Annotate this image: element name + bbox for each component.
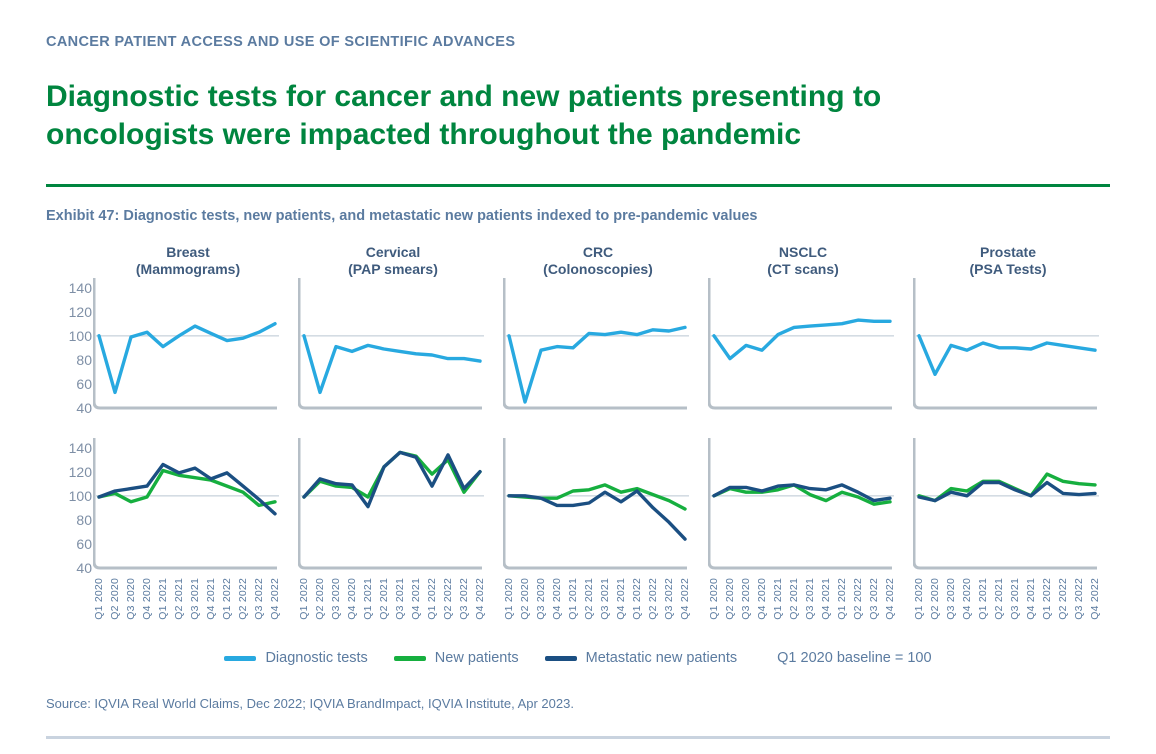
y-axis-tick: 40 (76, 561, 92, 575)
plot-bottom-nsclc (708, 438, 898, 578)
x-axis-tick: Q2 2022 (647, 578, 659, 620)
exhibit-caption: Exhibit 47: Diagnostic tests, new patien… (46, 208, 757, 224)
x-axis-tick: Q3 2022 (458, 578, 470, 620)
plot-top-nsclc (708, 278, 898, 418)
x-axis-tick: Q1 2022 (221, 578, 233, 620)
x-axis-tick: Q3 2020 (535, 578, 547, 620)
eyebrow-label: CANCER PATIENT ACCESS AND USE OF SCIENTI… (46, 34, 515, 50)
plot-top-prostate (913, 278, 1103, 418)
x-axis-tick: Q3 2021 (189, 578, 201, 620)
series-line (99, 465, 275, 514)
x-axis-tick: Q3 2022 (868, 578, 880, 620)
x-axis-tick: Q4 2022 (1089, 578, 1101, 620)
y-axis-labels-row-2: 406080100120140 (52, 438, 92, 568)
plot-bottom-prostate (913, 438, 1103, 578)
x-axis-tick: Q2 2021 (378, 578, 390, 620)
x-axis-tick: Q4 2020 (961, 578, 973, 620)
x-axis-tick: Q1 2022 (426, 578, 438, 620)
x-axis-tick: Q2 2022 (442, 578, 454, 620)
plot-bottom-breast (93, 438, 283, 578)
x-axis-tick: Q3 2021 (394, 578, 406, 620)
x-axis-tick: Q3 2022 (663, 578, 675, 620)
panel-title-name: Prostate (980, 244, 1036, 260)
x-axis-tick: Q4 2020 (141, 578, 153, 620)
x-axis-tick: Q1 2021 (567, 578, 579, 620)
x-axis-tick: Q1 2020 (503, 578, 515, 620)
x-axis-tick: Q3 2020 (945, 578, 957, 620)
legend-label: New patients (435, 650, 519, 666)
x-axis-tick: Q4 2021 (410, 578, 422, 620)
y-axis-tick: 80 (76, 353, 92, 367)
panel-title: Cervical(PAP smears) (298, 244, 488, 278)
y-axis-tick: 100 (69, 329, 92, 343)
plot-bottom-crc (503, 438, 693, 578)
y-axis-tick: 60 (76, 537, 92, 551)
panel-title-name: NSCLC (779, 244, 827, 260)
legend-item[interactable]: Metastatic new patients (545, 650, 738, 666)
x-axis-tick: Q3 2022 (1073, 578, 1085, 620)
x-axis-labels: Q1 2020Q2 2020Q3 2020Q4 2020Q1 2021Q2 20… (503, 578, 693, 636)
page-title: Diagnostic tests for cancer and new pati… (46, 78, 1046, 155)
legend-swatch-icon (394, 656, 426, 661)
legend-item[interactable]: New patients (394, 650, 519, 666)
panel-title-name: CRC (583, 244, 613, 260)
plot-top-cervical (298, 278, 488, 418)
legend-label: Metastatic new patients (586, 650, 738, 666)
x-axis-tick: Q1 2020 (708, 578, 720, 620)
x-axis-tick: Q2 2021 (993, 578, 1005, 620)
x-axis-tick: Q1 2022 (1041, 578, 1053, 620)
series-line (304, 336, 480, 393)
series-line (509, 327, 685, 402)
y-axis-tick: 140 (69, 281, 92, 295)
x-axis-tick: Q2 2021 (788, 578, 800, 620)
x-axis-tick: Q2 2020 (724, 578, 736, 620)
y-axis-tick: 120 (69, 305, 92, 319)
y-axis-labels-row-1: 406080100120140 (52, 278, 92, 408)
x-axis-tick: Q4 2020 (756, 578, 768, 620)
series-line (304, 452, 480, 506)
x-axis-tick: Q3 2020 (125, 578, 137, 620)
x-axis-tick: Q1 2020 (913, 578, 925, 620)
x-axis-tick: Q2 2022 (1057, 578, 1069, 620)
panel-title: Prostate(PSA Tests) (913, 244, 1103, 278)
x-axis-tick: Q2 2021 (583, 578, 595, 620)
chart-grid: 406080100120140406080100120140Breast(Mam… (0, 240, 1156, 680)
legend-baseline-note: Q1 2020 baseline = 100 (777, 650, 931, 666)
series-line (714, 320, 890, 359)
x-axis-tick: Q1 2022 (836, 578, 848, 620)
x-axis-tick: Q3 2021 (599, 578, 611, 620)
y-axis-tick: 140 (69, 441, 92, 455)
x-axis-tick: Q2 2020 (109, 578, 121, 620)
y-axis-tick: 40 (76, 401, 92, 415)
x-axis-tick: Q4 2020 (551, 578, 563, 620)
x-axis-labels: Q1 2020Q2 2020Q3 2020Q4 2020Q1 2021Q2 20… (93, 578, 283, 636)
x-axis-tick: Q4 2021 (1025, 578, 1037, 620)
x-axis-tick: Q2 2021 (173, 578, 185, 620)
chart-legend: Diagnostic testsNew patientsMetastatic n… (0, 650, 1156, 666)
x-axis-tick: Q1 2021 (362, 578, 374, 620)
legend-swatch-icon (224, 656, 256, 661)
x-axis-tick: Q1 2021 (157, 578, 169, 620)
plot-top-breast (93, 278, 283, 418)
source-note: Source: IQVIA Real World Claims, Dec 202… (46, 696, 574, 711)
x-axis-tick: Q1 2020 (298, 578, 310, 620)
x-axis-tick: Q4 2021 (820, 578, 832, 620)
footer-divider (46, 736, 1110, 739)
plot-bottom-cervical (298, 438, 488, 578)
panel-title-name: Breast (166, 244, 210, 260)
x-axis-tick: Q4 2021 (205, 578, 217, 620)
x-axis-labels: Q1 2020Q2 2020Q3 2020Q4 2020Q1 2021Q2 20… (298, 578, 488, 636)
x-axis-tick: Q3 2020 (740, 578, 752, 620)
legend-item[interactable]: Diagnostic tests (224, 650, 367, 666)
x-axis-tick: Q3 2020 (330, 578, 342, 620)
header-divider (46, 184, 1110, 187)
x-axis-tick: Q4 2022 (474, 578, 486, 620)
y-axis-tick: 100 (69, 489, 92, 503)
x-axis-tick: Q3 2022 (253, 578, 265, 620)
y-axis-tick: 80 (76, 513, 92, 527)
panel-title-subtitle: (Colonoscopies) (543, 261, 653, 277)
y-axis-tick: 120 (69, 465, 92, 479)
x-axis-tick: Q4 2020 (346, 578, 358, 620)
panel-title-subtitle: (CT scans) (767, 261, 839, 277)
series-line (919, 336, 1095, 375)
exhibit-page: CANCER PATIENT ACCESS AND USE OF SCIENTI… (0, 0, 1156, 754)
x-axis-tick: Q4 2021 (615, 578, 627, 620)
x-axis-labels: Q1 2020Q2 2020Q3 2020Q4 2020Q1 2021Q2 20… (708, 578, 898, 636)
x-axis-tick: Q1 2021 (772, 578, 784, 620)
panel-title-name: Cervical (366, 244, 420, 260)
panel-title-subtitle: (PAP smears) (348, 261, 438, 277)
legend-swatch-icon (545, 656, 577, 661)
x-axis-tick: Q2 2020 (519, 578, 531, 620)
x-axis-tick: Q2 2022 (852, 578, 864, 620)
x-axis-tick: Q1 2022 (631, 578, 643, 620)
x-axis-tick: Q2 2020 (314, 578, 326, 620)
panel-title: CRC(Colonoscopies) (503, 244, 693, 278)
x-axis-tick: Q4 2022 (679, 578, 691, 620)
series-line (99, 324, 275, 393)
panel-title: Breast(Mammograms) (93, 244, 283, 278)
x-axis-labels: Q1 2020Q2 2020Q3 2020Q4 2020Q1 2021Q2 20… (913, 578, 1103, 636)
x-axis-tick: Q3 2021 (804, 578, 816, 620)
panel-title-subtitle: (PSA Tests) (969, 261, 1046, 277)
legend-label: Diagnostic tests (265, 650, 367, 666)
x-axis-tick: Q4 2022 (884, 578, 896, 620)
y-axis-tick: 60 (76, 377, 92, 391)
panel-title: NSCLC(CT scans) (708, 244, 898, 278)
panel-title-subtitle: (Mammograms) (136, 261, 240, 277)
x-axis-tick: Q1 2021 (977, 578, 989, 620)
x-axis-tick: Q4 2022 (269, 578, 281, 620)
x-axis-tick: Q2 2020 (929, 578, 941, 620)
x-axis-tick: Q1 2020 (93, 578, 105, 620)
x-axis-tick: Q3 2021 (1009, 578, 1021, 620)
x-axis-tick: Q2 2022 (237, 578, 249, 620)
plot-top-crc (503, 278, 693, 418)
